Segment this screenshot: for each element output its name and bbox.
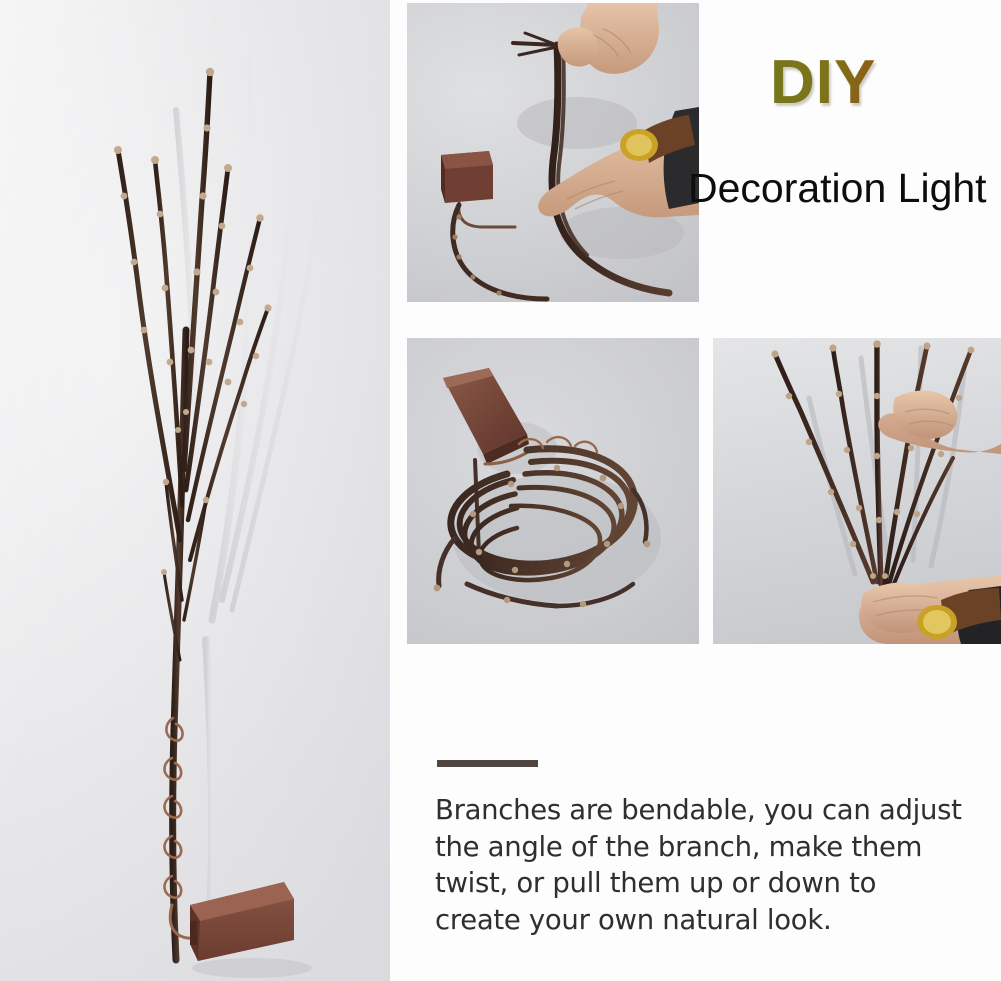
panel-straighten-illustration <box>407 3 699 302</box>
subheadline-decoration-light: Decoration Light <box>688 165 987 212</box>
product-infographic: DIY Decoration Light Branches are bendab… <box>0 0 1001 981</box>
panel-coiled-illustration <box>407 338 699 644</box>
panel-coiled-product <box>407 338 699 644</box>
hand-upper-right <box>878 368 1001 454</box>
battery-box <box>190 882 294 961</box>
battery-box-panel1 <box>441 151 493 203</box>
hand-upper <box>558 3 659 74</box>
battery-box-panel2 <box>443 368 529 464</box>
panel-arrange-illustration <box>713 338 1001 644</box>
description-text: Branches are bendable, you can adjust th… <box>435 792 965 938</box>
panel-arrange-branches <box>713 338 1001 644</box>
headline-diy: DIY <box>770 52 920 114</box>
description-divider <box>437 760 538 767</box>
hand-lower-right <box>859 576 1001 644</box>
panel-straighten <box>407 3 699 302</box>
hero-branch-illustration <box>0 0 390 981</box>
hero-photo <box>0 0 390 981</box>
